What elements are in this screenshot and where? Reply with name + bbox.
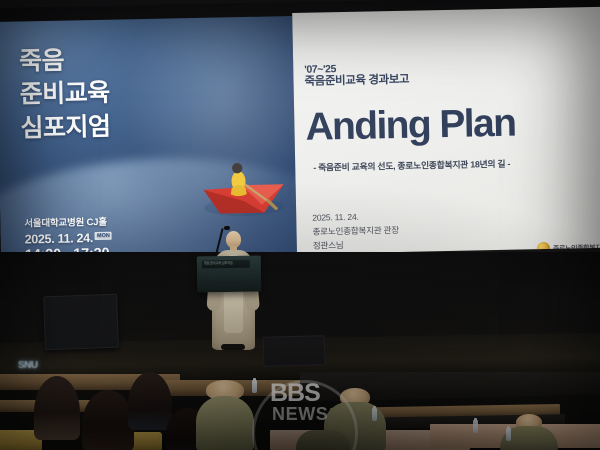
audience-person-2 xyxy=(82,390,134,450)
stage-monitor xyxy=(43,294,119,351)
left-slide-venue: 서울대학교병원 CJ홀 xyxy=(24,214,111,230)
right-slide-presenter-meta: 2025. 11. 24. 종로노인종합복지관 관장 정관스님 xyxy=(312,209,399,253)
left-slide-title-line-2: 준비교육 xyxy=(19,77,110,112)
photo-scene: 죽음 준비교육 심포지엄 서울대학교병원 CJ홀 xyxy=(0,0,600,450)
podium-sign: 죽음 준비교육 심포지엄 xyxy=(202,260,250,269)
right-slide-meta-name: 정관스님 xyxy=(313,237,400,253)
water-bottle-4 xyxy=(252,380,257,393)
projection-wall: 죽음 준비교육 심포지엄 서울대학교병원 CJ홀 xyxy=(0,0,600,260)
right-slide-meta-org: 종로노인종합복지관 관장 xyxy=(312,223,399,239)
audience-area xyxy=(0,372,600,450)
audience-person-3 xyxy=(128,372,172,430)
presenter-shoes xyxy=(221,344,245,350)
audience-monk-body-1 xyxy=(196,396,254,450)
right-slide-subtitle: - 죽음준비 교육의 선도, 종로노인종합복지관 18년의 길 - xyxy=(313,157,510,174)
left-slide-date: 2025. 11. 24. xyxy=(25,231,94,246)
microphone-head xyxy=(224,226,230,230)
audience-person-5 xyxy=(296,430,350,450)
left-slide-title: 죽음 준비교육 심포지엄 xyxy=(19,44,111,146)
podium: 죽음 준비교육 심포지엄 xyxy=(197,256,261,293)
right-projected-slide: '07~'25 죽음준비교육 경과보고 Anding Plan - 죽음준비 교… xyxy=(292,7,600,260)
right-slide-kicker: '07~'25 죽음준비교육 경과보고 xyxy=(304,62,409,90)
left-projected-slide: 죽음 준비교육 심포지엄 서울대학교병원 CJ홀 xyxy=(0,16,297,260)
left-slide-title-line-3: 심포지엄 xyxy=(20,110,111,145)
left-slide-title-line-1: 죽음 xyxy=(19,44,110,79)
stage-speaker-box xyxy=(263,335,326,367)
podium-sign-text: 죽음 준비교육 심포지엄 xyxy=(202,260,250,266)
paper-boat-illustration xyxy=(195,154,292,228)
water-bottle-3 xyxy=(506,428,511,441)
right-slide-main-title: Anding Plan xyxy=(305,104,516,147)
right-slide-kicker-subject: 죽음준비교육 경과보고 xyxy=(304,74,409,90)
water-bottle-2 xyxy=(473,420,478,433)
water-bottle-1 xyxy=(372,408,377,421)
left-slide-dateline: 2025. 11. 24. MON xyxy=(25,231,112,247)
left-slide-day-badge: MON xyxy=(95,232,112,240)
